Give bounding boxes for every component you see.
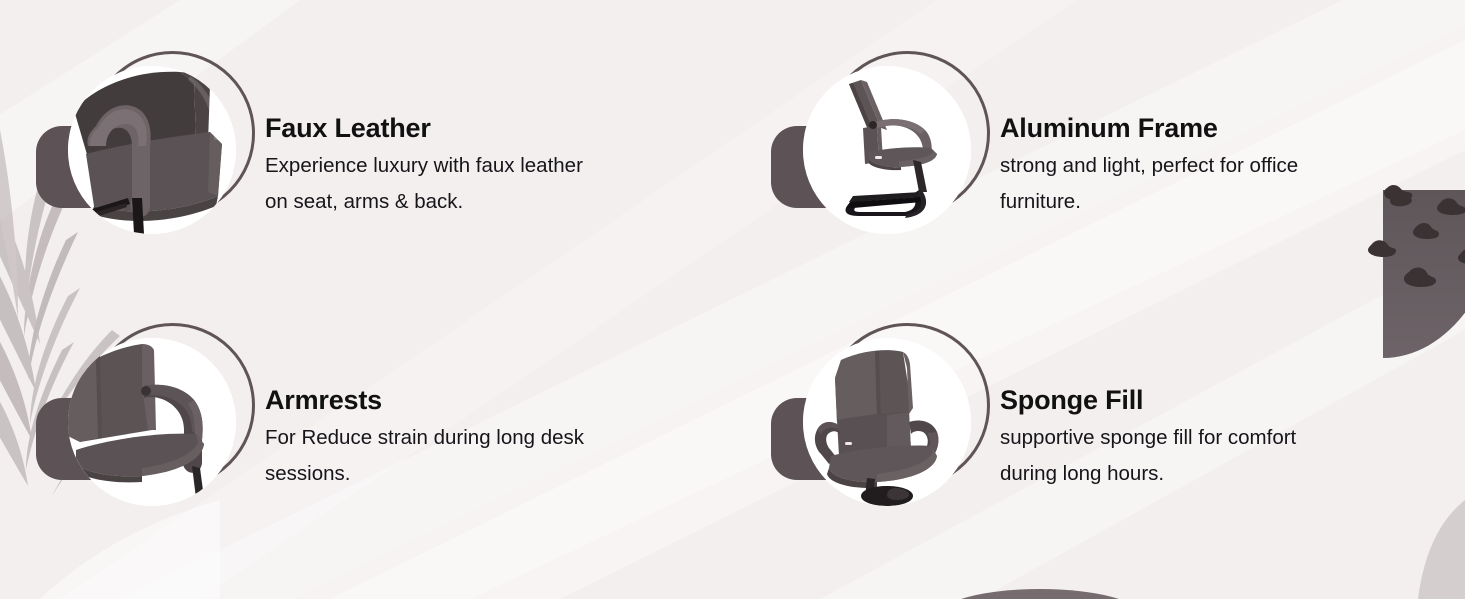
feature-media bbox=[22, 320, 262, 545]
feature-description: supportive sponge fill for comfort durin… bbox=[1000, 420, 1300, 492]
feature-copy: Aluminum Frame strong and light, perfect… bbox=[1000, 114, 1420, 221]
feature-title: Sponge Fill bbox=[1000, 386, 1420, 414]
feature-description: strong and light, perfect for office fur… bbox=[1000, 148, 1300, 220]
feature-copy: Faux Leather Experience luxury with faux… bbox=[265, 114, 685, 221]
feature-description: For Reduce strain during long desk sessi… bbox=[265, 420, 595, 492]
feature-title: Faux Leather bbox=[265, 114, 685, 142]
feature-list: Faux Leather Experience luxury with faux… bbox=[0, 0, 1465, 599]
feature-description: Experience luxury with faux leather on s… bbox=[265, 148, 595, 220]
feature-showcase-banner: Faux Leather Experience luxury with faux… bbox=[0, 0, 1465, 599]
feature-title: Aluminum Frame bbox=[1000, 114, 1420, 142]
feature-media bbox=[757, 48, 997, 273]
chair-side-profile-image bbox=[803, 66, 971, 234]
feature-copy: Sponge Fill supportive sponge fill for c… bbox=[1000, 386, 1420, 493]
feature-media bbox=[757, 320, 997, 545]
chair-armrest-closeup-image bbox=[68, 338, 236, 506]
feature-copy: Armrests For Reduce strain during long d… bbox=[265, 386, 685, 493]
chair-seat-armrest-closeup-image bbox=[68, 66, 236, 234]
feature-title: Armrests bbox=[265, 386, 685, 414]
feature-media bbox=[22, 48, 262, 273]
chair-full-front-view-image bbox=[803, 338, 971, 506]
